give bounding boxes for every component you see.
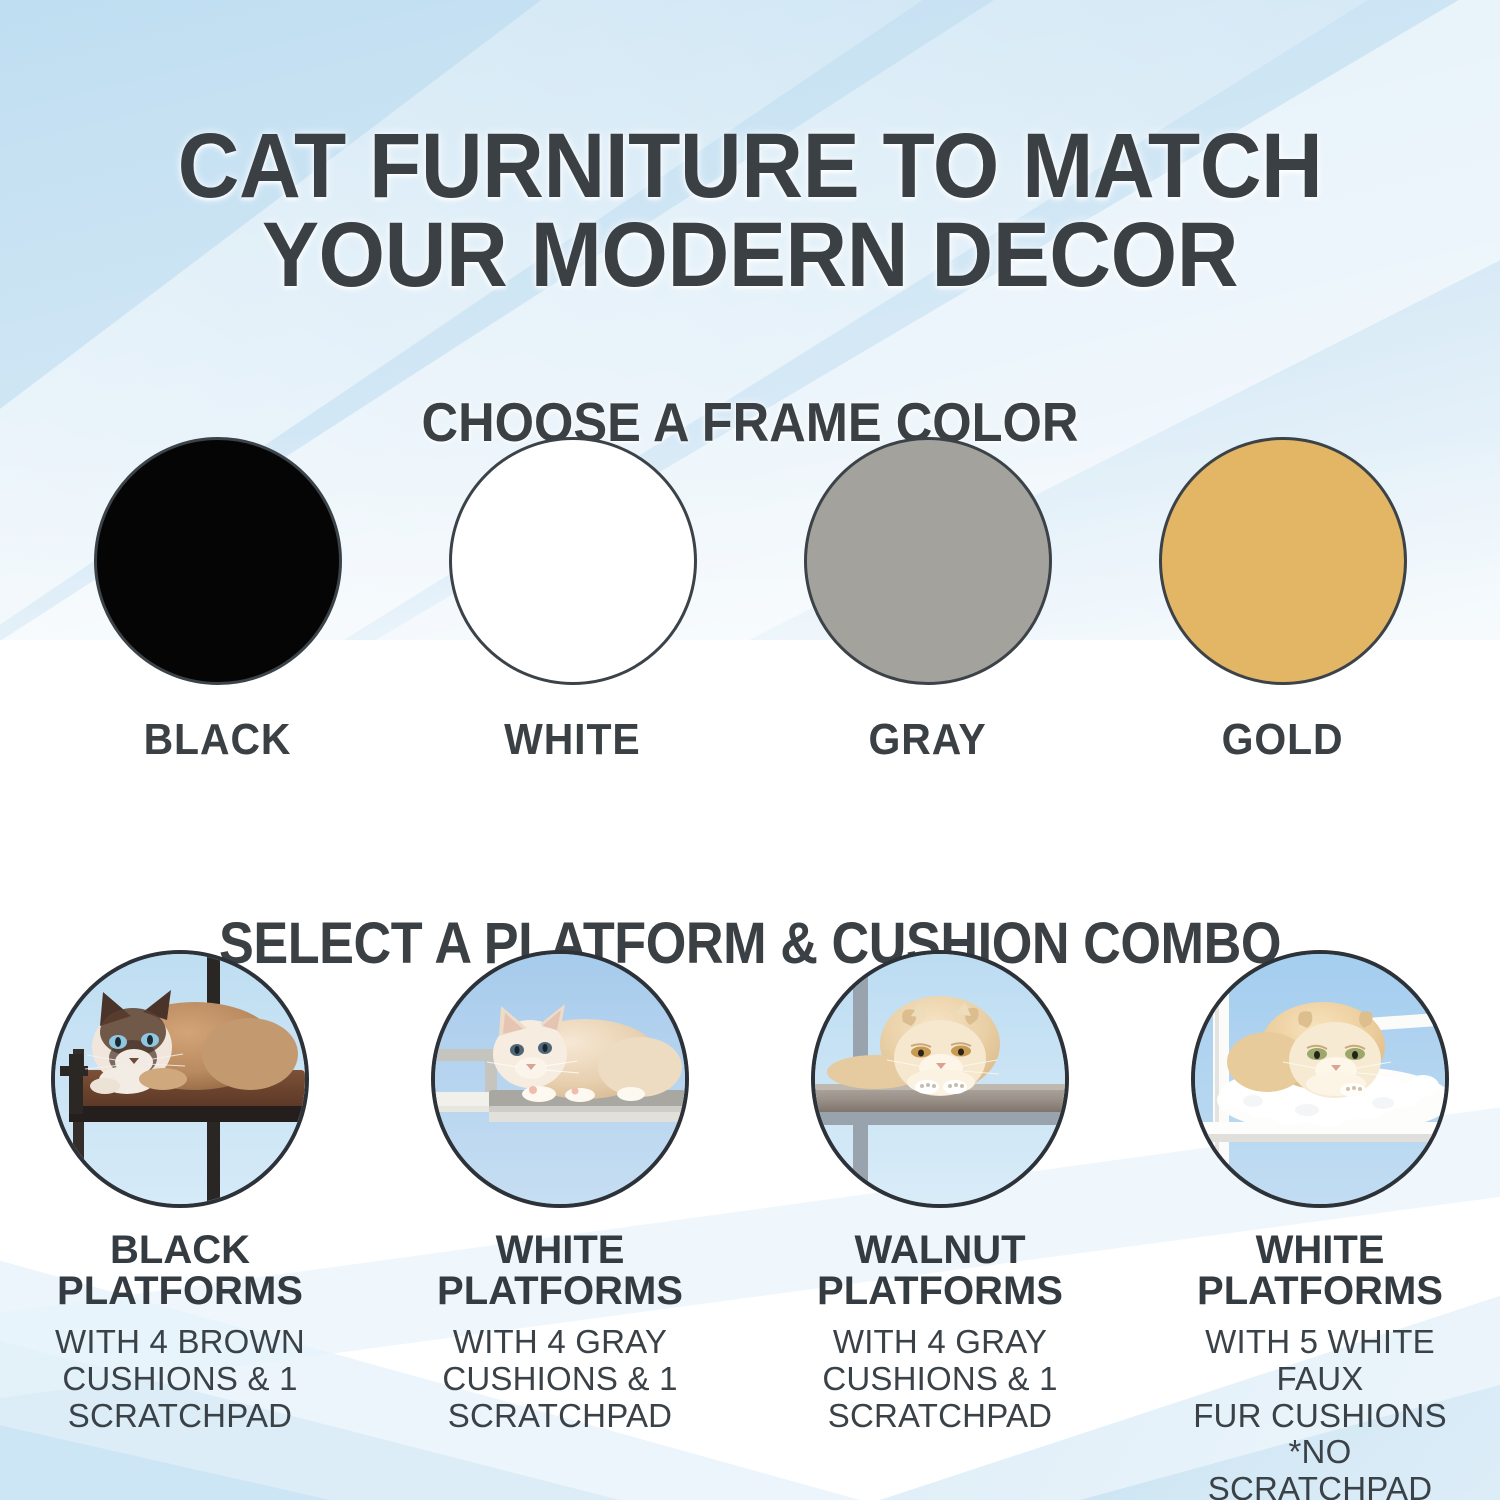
swatch-label-gray: GRAY <box>868 715 986 765</box>
combo-subtitle-black-platforms: WITH 4 BROWN CUSHIONS & 1 SCRATCHPAD <box>55 1324 305 1435</box>
swatch-option-gold[interactable]: GOLD <box>1145 437 1420 765</box>
color-swatch-white[interactable] <box>449 437 697 685</box>
swatch-option-black[interactable]: BLACK <box>80 437 355 765</box>
product-photo-white-platforms-fur[interactable] <box>1191 950 1449 1208</box>
combo-subtitle-white-platforms-fur: WITH 5 WHITE FAUX FUR CUSHIONS *NO SCRAT… <box>1190 1324 1450 1500</box>
combo-title-black-platforms: BLACK PLATFORMS <box>57 1230 303 1312</box>
swatch-label-gold: GOLD <box>1222 715 1344 765</box>
swatch-label-black: BLACK <box>144 715 292 765</box>
product-photo-walnut-platforms[interactable] <box>811 950 1069 1208</box>
content-layer: CAT FURNITURE TO MATCH YOUR MODERN DECOR… <box>0 0 1500 1500</box>
swatch-label-white: WHITE <box>504 715 640 765</box>
combo-option-white-platforms-gray[interactable]: WHITE PLATFORMS WITH 4 GRAY CUSHIONS & 1… <box>430 950 690 1500</box>
infographic-page: CAT FURNITURE TO MATCH YOUR MODERN DECOR… <box>0 0 1500 1500</box>
combo-option-black-platforms[interactable]: BLACK PLATFORMS WITH 4 BROWN CUSHIONS & … <box>50 950 310 1500</box>
cream-cat-on-white-platform-illustration <box>435 954 685 1204</box>
color-swatch-gold[interactable] <box>1159 437 1407 685</box>
combo-title-white-platforms-fur: WHITE PLATFORMS <box>1197 1230 1443 1312</box>
product-photo-black-platforms[interactable] <box>51 950 309 1208</box>
golden-cat-on-walnut-platform-illustration <box>815 954 1065 1204</box>
combo-option-white-platforms-fur[interactable]: WHITE PLATFORMS WITH 5 WHITE FAUX FUR CU… <box>1190 950 1450 1500</box>
swatch-option-white[interactable]: WHITE <box>435 437 710 765</box>
page-title: CAT FURNITURE TO MATCH YOUR MODERN DECOR <box>53 122 1448 300</box>
golden-cat-on-white-faux-fur-illustration <box>1195 954 1445 1204</box>
combo-subtitle-white-platforms-gray: WITH 4 GRAY CUSHIONS & 1 SCRATCHPAD <box>442 1324 677 1435</box>
swatch-option-gray[interactable]: GRAY <box>790 437 1065 765</box>
combo-title-white-platforms-gray: WHITE PLATFORMS <box>437 1230 683 1312</box>
product-photo-white-platforms-gray[interactable] <box>431 950 689 1208</box>
combo-subtitle-walnut-platforms: WITH 4 GRAY CUSHIONS & 1 SCRATCHPAD <box>822 1324 1057 1435</box>
combo-title-walnut-platforms: WALNUT PLATFORMS <box>817 1230 1063 1312</box>
combo-option-walnut-platforms[interactable]: WALNUT PLATFORMS WITH 4 GRAY CUSHIONS & … <box>810 950 1070 1500</box>
platform-cushion-row: BLACK PLATFORMS WITH 4 BROWN CUSHIONS & … <box>0 950 1500 1500</box>
frame-color-swatch-row: BLACK WHITE GRAY GOLD <box>0 437 1500 765</box>
color-swatch-gray[interactable] <box>804 437 1052 685</box>
siamese-cat-on-black-platform-illustration <box>55 954 305 1204</box>
color-swatch-black[interactable] <box>94 437 342 685</box>
